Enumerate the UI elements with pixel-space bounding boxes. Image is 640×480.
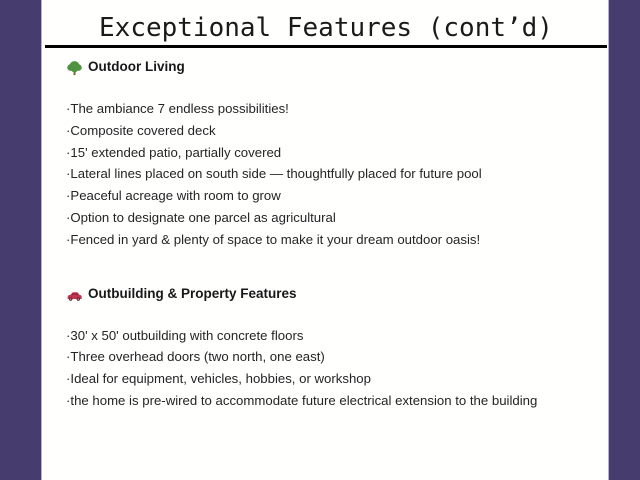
- title-divider-rule: [45, 45, 607, 48]
- slide-title-block: Exceptional Features (cont’d): [44, 0, 608, 49]
- list-item: ·30' x 50' outbuilding with concrete flo…: [66, 325, 598, 347]
- bullet-list-outbuilding-property-features: ·30' x 50' outbuilding with concrete flo…: [66, 325, 598, 412]
- slide-canvas: Exceptional Features (cont’d): [42, 0, 608, 480]
- list-item-text: Option to designate one parcel as agricu…: [70, 210, 335, 225]
- list-item: ·Fenced in yard & plenty of space to mak…: [66, 229, 598, 251]
- list-item-text: The ambiance 7 endless possibilities!: [70, 101, 288, 116]
- list-item-text: Peaceful acreage with room to grow: [70, 188, 280, 203]
- section-outbuilding-property-features: Outbuilding & Property Features ·30' x 5…: [66, 285, 598, 412]
- list-item: ·15' extended patio, partially covered: [66, 142, 598, 164]
- slide-body: Outdoor Living ·The ambiance 7 endless p…: [66, 58, 598, 480]
- section-title-text: Outdoor Living: [88, 58, 185, 76]
- list-item-text: Fenced in yard & plenty of space to make…: [70, 232, 480, 247]
- list-item: ·Three overhead doors (two north, one ea…: [66, 346, 598, 368]
- list-item: ·Peaceful acreage with room to grow: [66, 185, 598, 207]
- section-heading-outdoor-living: Outdoor Living: [66, 58, 598, 76]
- page-title: Exceptional Features (cont’d): [44, 13, 608, 43]
- section-title-text: Outbuilding & Property Features: [88, 285, 297, 303]
- tree-emoji-icon: [66, 60, 83, 76]
- list-item: ·Ideal for equipment, vehicles, hobbies,…: [66, 368, 598, 390]
- list-item-text: Ideal for equipment, vehicles, hobbies, …: [70, 371, 371, 386]
- section-heading-outbuilding-property-features: Outbuilding & Property Features: [66, 285, 598, 303]
- bullet-list-outdoor-living: ·The ambiance 7 endless possibilities! ·…: [66, 98, 598, 251]
- list-item: ·Option to designate one parcel as agric…: [66, 207, 598, 229]
- list-item-text: Lateral lines placed on south side — tho…: [70, 166, 481, 181]
- list-item-text: Composite covered deck: [70, 123, 215, 138]
- slide-viewer: Exceptional Features (cont’d): [0, 0, 640, 480]
- slide-right-margin-band: [608, 0, 640, 480]
- list-item-text: the home is pre-wired to accommodate fut…: [70, 393, 537, 408]
- list-item-text: 15' extended patio, partially covered: [70, 145, 281, 160]
- list-item-text: 30' x 50' outbuilding with concrete floo…: [70, 328, 303, 343]
- list-item: ·Lateral lines placed on south side — th…: [66, 163, 598, 185]
- list-item: ·Composite covered deck: [66, 120, 598, 142]
- car-emoji-icon: [66, 287, 83, 303]
- list-item-text: Three overhead doors (two north, one eas…: [70, 349, 324, 364]
- list-item: ·The ambiance 7 endless possibilities!: [66, 98, 598, 120]
- slide-left-margin-band: [0, 0, 42, 480]
- list-item: ·the home is pre-wired to accommodate fu…: [66, 390, 598, 412]
- section-outdoor-living: Outdoor Living ·The ambiance 7 endless p…: [66, 58, 598, 251]
